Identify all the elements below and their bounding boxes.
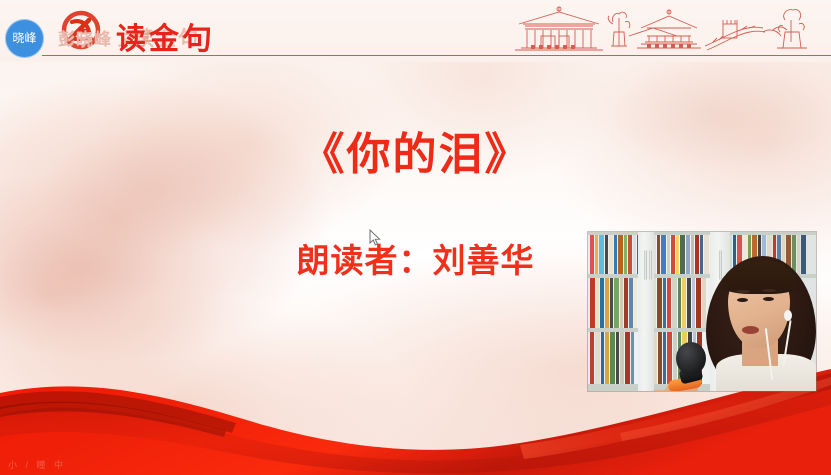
book-row <box>652 235 710 274</box>
book-row <box>590 332 638 384</box>
landmarks-line-art <box>501 2 813 58</box>
book-row <box>590 235 638 274</box>
book-row <box>652 278 710 328</box>
eyebrow <box>736 290 750 293</box>
eye <box>763 297 774 301</box>
brand-title: 读金句 <box>116 14 215 58</box>
eyebrow <box>762 289 776 292</box>
slide-title: 《你的泪》 <box>0 118 831 182</box>
ribbon-watermark: 小 / 瞳 中 <box>8 458 66 471</box>
beijing-landmarks-icon <box>501 2 813 58</box>
header-divider-line <box>42 55 831 56</box>
cabinet-handle <box>644 250 647 280</box>
book-row <box>590 278 638 328</box>
microphone-head <box>676 342 706 375</box>
mouth <box>742 326 759 334</box>
slide-header: 晓峰 彭晓峰 文学 读金句 读金句 <box>0 0 831 62</box>
speaker-video-tile[interactable] <box>588 232 816 391</box>
cabinet-handle <box>649 250 652 280</box>
cabinet-handle <box>719 250 722 280</box>
video-scene <box>588 232 816 391</box>
slide-stage: 小 / 瞳 中 晓峰 彭晓峰 文学 读金句 读金句 <box>0 0 831 475</box>
author-badge[interactable]: 晓峰 <box>5 19 44 58</box>
eye <box>737 298 748 302</box>
